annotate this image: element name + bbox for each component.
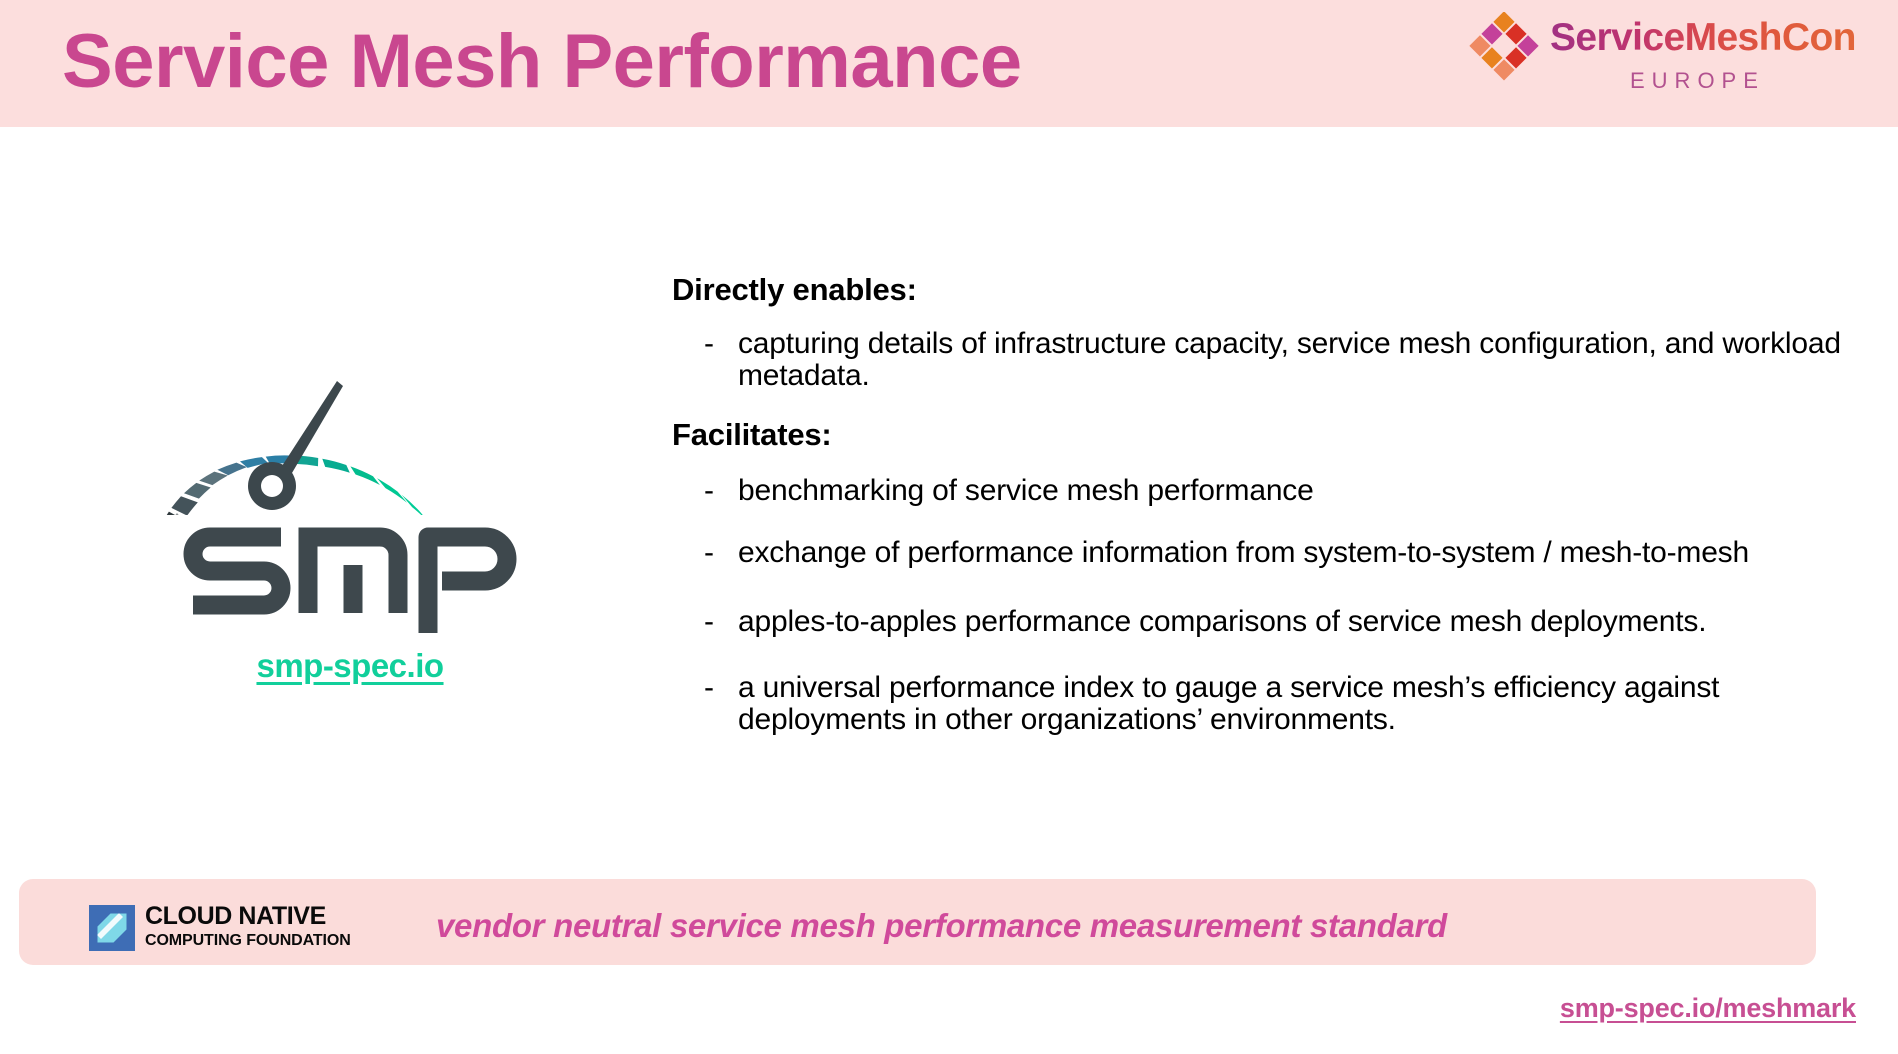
cncf-square-mark (89, 905, 135, 951)
page-title: Service Mesh Performance (62, 8, 1022, 116)
bullet-marker: - (672, 672, 738, 704)
list-item: - apples-to-apples performance compariso… (672, 606, 1862, 638)
bullet-marker: - (672, 537, 738, 569)
list-item-text: capturing details of infrastructure capa… (738, 328, 1862, 393)
smp-branding-block: smp-spec.io (90, 235, 610, 735)
list-item: - benchmarking of service mesh performan… (672, 475, 1862, 507)
list-item: - exchange of performance information fr… (672, 537, 1862, 569)
conference-region-label: EUROPE (1630, 68, 1765, 94)
list-item: - capturing details of infrastructure ca… (672, 328, 1862, 393)
bullet-marker: - (672, 606, 738, 638)
slide-root: Service Mesh Performance ServiceMeshCon … (0, 0, 1898, 1054)
servicemeshcon-diamond-mark (1468, 12, 1540, 84)
facilitates-heading: Facilitates: (672, 417, 1862, 453)
facilitates-list: - benchmarking of service mesh performan… (672, 475, 1862, 737)
smp-wordmark (110, 523, 590, 638)
list-item: - a universal performance index to gauge… (672, 672, 1862, 737)
smp-spec-link[interactable]: smp-spec.io (110, 647, 590, 685)
performance-gauge (90, 235, 610, 515)
bullet-marker: - (672, 475, 738, 507)
cncf-wordmark: CLOUD NATIVE COMPUTING FOUNDATION (145, 902, 351, 952)
list-item-text: exchange of performance information from… (738, 537, 1862, 569)
footer-tagline: vendor neutral service mesh performance … (436, 907, 1447, 945)
cncf-line-2: COMPUTING FOUNDATION (145, 930, 351, 952)
directly-enables-list: - capturing details of infrastructure ca… (672, 328, 1862, 393)
cncf-logo: CLOUD NATIVE COMPUTING FOUNDATION (89, 900, 341, 958)
list-item-text: a universal performance index to gauge a… (738, 672, 1862, 737)
list-item-text: apples-to-apples performance comparisons… (738, 606, 1862, 638)
meshmark-link[interactable]: smp-spec.io/meshmark (1560, 993, 1856, 1024)
directly-enables-heading: Directly enables: (672, 272, 1862, 308)
smp-wordmark-glyphs (180, 523, 520, 633)
conference-wordmark: ServiceMeshCon (1550, 16, 1856, 60)
list-item-text: benchmarking of service mesh performance (738, 475, 1862, 507)
conference-logo: ServiceMeshCon EUROPE (1468, 6, 1878, 118)
bullet-marker: - (672, 328, 738, 360)
content-column: Directly enables: - capturing details of… (672, 272, 1862, 737)
cncf-line-1: CLOUD NATIVE (145, 902, 351, 930)
gauge-needle (248, 381, 343, 510)
